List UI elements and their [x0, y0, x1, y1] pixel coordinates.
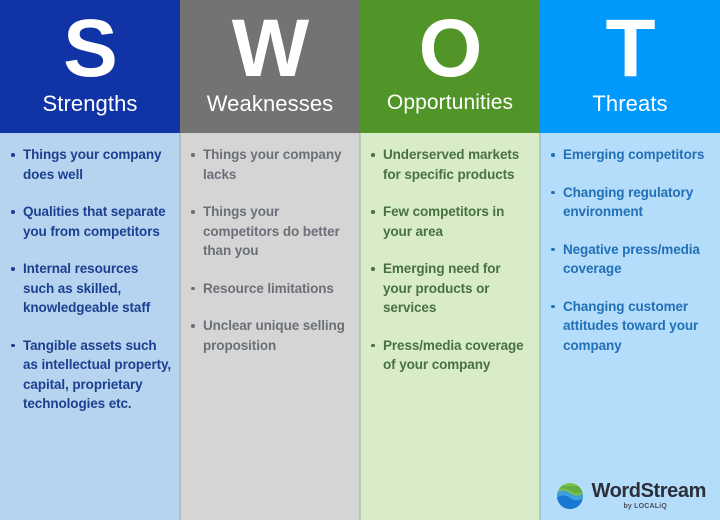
- column-letter-w: W: [232, 6, 308, 92]
- column-title-strengths: Strengths: [42, 92, 137, 115]
- bullet-list-strengths: Things your company does well Qualities …: [9, 145, 172, 414]
- list-item: Things your company does well: [9, 145, 172, 184]
- swot-column-threats: T Threats Emerging competitors Changing …: [540, 0, 720, 520]
- bullet-list-threats: Emerging competitors Changing regulatory…: [549, 145, 712, 355]
- swot-column-opportunities: O Opportunities Underserved markets for …: [360, 0, 540, 520]
- column-header-weaknesses: W Weaknesses: [180, 0, 360, 133]
- list-item: Internal resources such as skilled, know…: [9, 259, 172, 318]
- list-item: Tangible assets such as intellectual pro…: [9, 336, 172, 414]
- bullet-list-opportunities: Underserved markets for specific product…: [369, 145, 532, 375]
- column-body-weaknesses: Things your company lacks Things your co…: [180, 133, 360, 520]
- column-header-threats: T Threats: [540, 0, 720, 133]
- column-header-opportunities: O Opportunities: [360, 0, 540, 133]
- column-header-strengths: S Strengths: [0, 0, 180, 133]
- column-body-threats: Emerging competitors Changing regulatory…: [540, 133, 720, 520]
- column-letter-s: S: [63, 6, 117, 92]
- list-item: Things your company lacks: [189, 145, 352, 184]
- column-title-opportunities: Opportunities: [387, 92, 513, 114]
- list-item: Qualities that separate you from competi…: [9, 202, 172, 241]
- list-item: Few competitors in your area: [369, 202, 532, 241]
- swot-matrix: S Strengths Things your company does wel…: [0, 0, 720, 520]
- swot-column-strengths: S Strengths Things your company does wel…: [0, 0, 180, 520]
- column-body-strengths: Things your company does well Qualities …: [0, 133, 180, 520]
- list-item: Changing regulatory environment: [549, 183, 712, 222]
- list-item: Things your competitors do better than y…: [189, 202, 352, 261]
- bullet-list-weaknesses: Things your company lacks Things your co…: [189, 145, 352, 355]
- list-item: Resource limitations: [189, 279, 352, 299]
- list-item: Negative press/media coverage: [549, 240, 712, 279]
- column-letter-o: O: [419, 6, 482, 92]
- column-title-weaknesses: Weaknesses: [207, 92, 334, 115]
- brand-tagline: by LOCALiQ: [623, 503, 667, 510]
- brand-text: WordStream by LOCALiQ: [591, 481, 706, 510]
- list-item: Unclear unique selling proposition: [189, 316, 352, 355]
- list-item: Emerging competitors: [549, 145, 712, 165]
- column-body-opportunities: Underserved markets for specific product…: [360, 133, 540, 520]
- column-title-threats: Threats: [592, 92, 667, 115]
- list-item: Underserved markets for specific product…: [369, 145, 532, 184]
- swot-column-weaknesses: W Weaknesses Things your company lacks T…: [180, 0, 360, 520]
- list-item: Changing customer attitudes toward your …: [549, 297, 712, 356]
- wordstream-logo: WordStream by LOCALiQ: [556, 481, 706, 510]
- wave-circle-icon: [556, 482, 584, 510]
- brand-name: WordStream: [591, 481, 706, 501]
- list-item: Press/media coverage of your company: [369, 336, 532, 375]
- list-item: Emerging need for your products or servi…: [369, 259, 532, 318]
- column-letter-t: T: [605, 6, 654, 92]
